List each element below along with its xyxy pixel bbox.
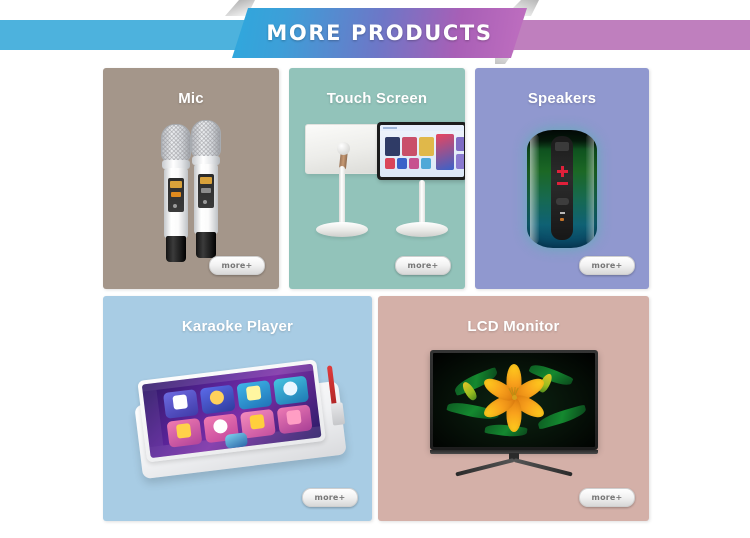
product-card-mic[interactable]: Mic more+: [103, 68, 279, 289]
banner-right-band: [505, 20, 750, 50]
banner-left-band: [0, 20, 262, 50]
page-title: MORE PRODUCTS: [232, 8, 527, 58]
more-button-speakers[interactable]: more+: [579, 256, 635, 275]
more-button-mic[interactable]: more+: [209, 256, 265, 275]
card-title-speakers: Speakers: [475, 90, 649, 107]
microphone-illustration: [103, 120, 279, 265]
product-card-touch-screen[interactable]: Touch Screen: [289, 68, 465, 289]
card-title-lcd-monitor: LCD Monitor: [378, 318, 649, 335]
karaoke-player-illustration: [103, 351, 372, 511]
more-button-lcd-monitor[interactable]: more+: [579, 488, 635, 507]
card-title-mic: Mic: [103, 90, 279, 107]
speaker-illustration: [475, 120, 649, 270]
card-title-touch-screen: Touch Screen: [289, 90, 465, 107]
more-button-karaoke-player[interactable]: more+: [302, 488, 358, 507]
product-card-lcd-monitor[interactable]: LCD Monitor: [378, 296, 649, 521]
product-card-karaoke-player[interactable]: Karaoke Player: [103, 296, 372, 521]
card-title-karaoke-player: Karaoke Player: [103, 318, 372, 335]
touch-screen-illustration: [289, 116, 465, 271]
more-button-touch-screen[interactable]: more+: [395, 256, 451, 275]
product-grid: Mic more+ Touch Screen: [103, 68, 649, 521]
page-banner: MORE PRODUCTS: [0, 0, 750, 66]
product-card-speakers[interactable]: Speakers more+: [475, 68, 649, 289]
lcd-monitor-illustration: [378, 346, 649, 511]
